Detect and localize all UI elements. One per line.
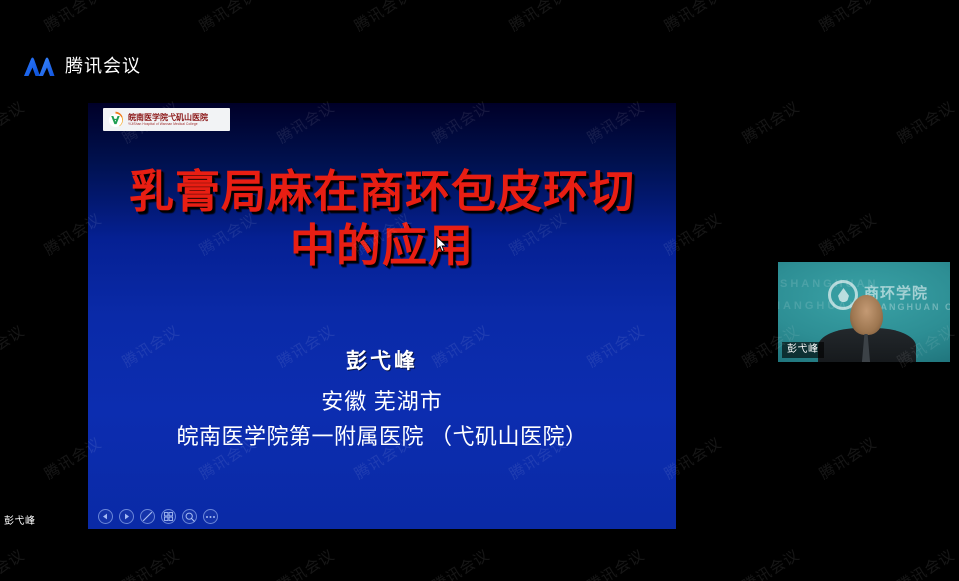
participant-video-tile[interactable]: SHANGHUAN HANGHUANO 商环学院 SHANGHUAN COLLE…: [778, 262, 950, 362]
watermark-text: 腾讯会议: [660, 0, 725, 36]
watermark-text: 腾讯会议: [583, 544, 648, 581]
tencent-meeting-screen-share: 腾讯会议 皖南医学院弋矶山医院 YiJiShan Hospital of Wan…: [0, 0, 959, 581]
tencent-meeting-logo-icon: [22, 55, 56, 77]
participant-head: [850, 295, 883, 335]
watermark-text: 腾讯会议: [815, 208, 880, 260]
hospital-name-block: 皖南医学院弋矶山医院 YiJiShan Hospital of Wannan M…: [128, 113, 208, 127]
slide-overview-button[interactable]: [161, 509, 176, 524]
presentation-toolbar[interactable]: [98, 509, 218, 524]
watermark-text: 腾讯会议: [0, 544, 28, 581]
watermark-text: 腾讯会议: [815, 0, 880, 36]
author-city: 安徽 芜湖市: [88, 388, 676, 416]
watermark-text: 腾讯会议: [428, 544, 493, 581]
watermark-text: 腾讯会议: [118, 544, 183, 581]
watermark-text: 腾讯会议: [350, 0, 415, 36]
watermark-text: 腾讯会议: [195, 0, 260, 36]
prev-slide-button[interactable]: [98, 509, 113, 524]
hospital-name-cn: 皖南医学院弋矶山医院: [128, 113, 208, 122]
participant-name-badge: 彭弋峰: [782, 342, 824, 358]
watermark-text: 腾讯会议: [893, 96, 958, 148]
hospital-emblem-icon: [106, 110, 125, 129]
watermark-text: 腾讯会议: [738, 544, 803, 581]
shared-slide-content[interactable]: 皖南医学院弋矶山医院 YiJiShan Hospital of Wannan M…: [88, 103, 676, 529]
watermark-text: 腾讯会议: [273, 544, 338, 581]
watermark-text: 腾讯会议: [40, 0, 105, 36]
watermark-text: 腾讯会议: [0, 96, 28, 148]
watermark-text: 腾讯会议: [505, 0, 570, 36]
app-brand: 腾讯会议: [22, 55, 141, 77]
active-speaker-label: 彭弋峰: [4, 515, 36, 528]
watermark-text: 腾讯会议: [893, 544, 958, 581]
author-organization: 皖南医学院第一附属医院 （弋矶山医院）: [88, 422, 676, 452]
app-name: 腾讯会议: [65, 57, 141, 75]
zoom-in-button[interactable]: [182, 509, 197, 524]
watermark-text: 腾讯会议: [738, 96, 803, 148]
watermark-text: 腾讯会议: [0, 320, 28, 372]
hospital-name-en: YiJiShan Hospital of Wannan Medical Coll…: [128, 122, 206, 127]
next-slide-button[interactable]: [119, 509, 134, 524]
author-name: 彭弋峰: [88, 348, 676, 374]
more-options-button[interactable]: [203, 509, 218, 524]
watermark-text: 腾讯会议: [815, 432, 880, 484]
slide-author-block: 彭弋峰 安徽 芜湖市 皖南医学院第一附属医院 （弋矶山医院）: [88, 348, 676, 452]
slide-title: 乳膏局麻在商环包皮环切中的应用: [88, 165, 676, 273]
pen-annotation-button[interactable]: [140, 509, 155, 524]
hospital-logo-banner: 皖南医学院弋矶山医院 YiJiShan Hospital of Wannan M…: [103, 108, 230, 131]
